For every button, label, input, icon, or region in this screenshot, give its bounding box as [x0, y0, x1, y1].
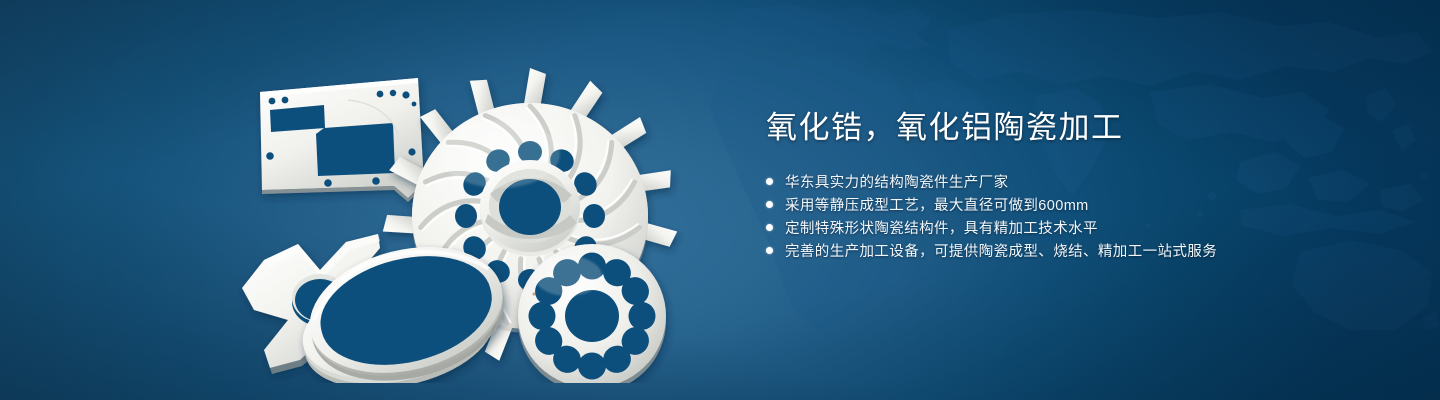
list-item-label: 采用等静压成型工艺，最大直径可做到600mm	[785, 194, 1089, 215]
ceramic-perforated-disc-photo	[518, 244, 666, 383]
dot-icon	[766, 247, 773, 254]
promo-banner: 氧化锆，氧化铝陶瓷加工 华东具实力的结构陶瓷件生产厂家 采用等静压成型工艺，最大…	[0, 0, 1440, 400]
list-item-label: 华东具实力的结构陶瓷件生产厂家	[785, 171, 1009, 192]
list-item: 定制特殊形状陶瓷结构件，具有精加工技术水平	[766, 216, 1366, 239]
dot-icon	[766, 201, 773, 208]
list-item: 采用等静压成型工艺，最大直径可做到600mm	[766, 193, 1366, 216]
ceramic-plate-photo	[260, 78, 424, 202]
banner-text-block: 氧化锆，氧化铝陶瓷加工 华东具实力的结构陶瓷件生产厂家 采用等静压成型工艺，最大…	[766, 108, 1366, 262]
dot-icon	[766, 178, 773, 185]
list-item-label: 完善的生产加工设备，可提供陶瓷成型、烧结、精加工一站式服务	[785, 240, 1217, 261]
ceramic-products-image	[228, 38, 688, 383]
feature-list: 华东具实力的结构陶瓷件生产厂家 采用等静压成型工艺，最大直径可做到600mm 定…	[766, 170, 1366, 262]
list-item-label: 定制特殊形状陶瓷结构件，具有精加工技术水平	[785, 217, 1098, 238]
page-title: 氧化锆，氧化铝陶瓷加工	[766, 108, 1366, 148]
dot-icon	[766, 224, 773, 231]
list-item: 华东具实力的结构陶瓷件生产厂家	[766, 170, 1366, 193]
list-item: 完善的生产加工设备，可提供陶瓷成型、烧结、精加工一站式服务	[766, 239, 1366, 262]
